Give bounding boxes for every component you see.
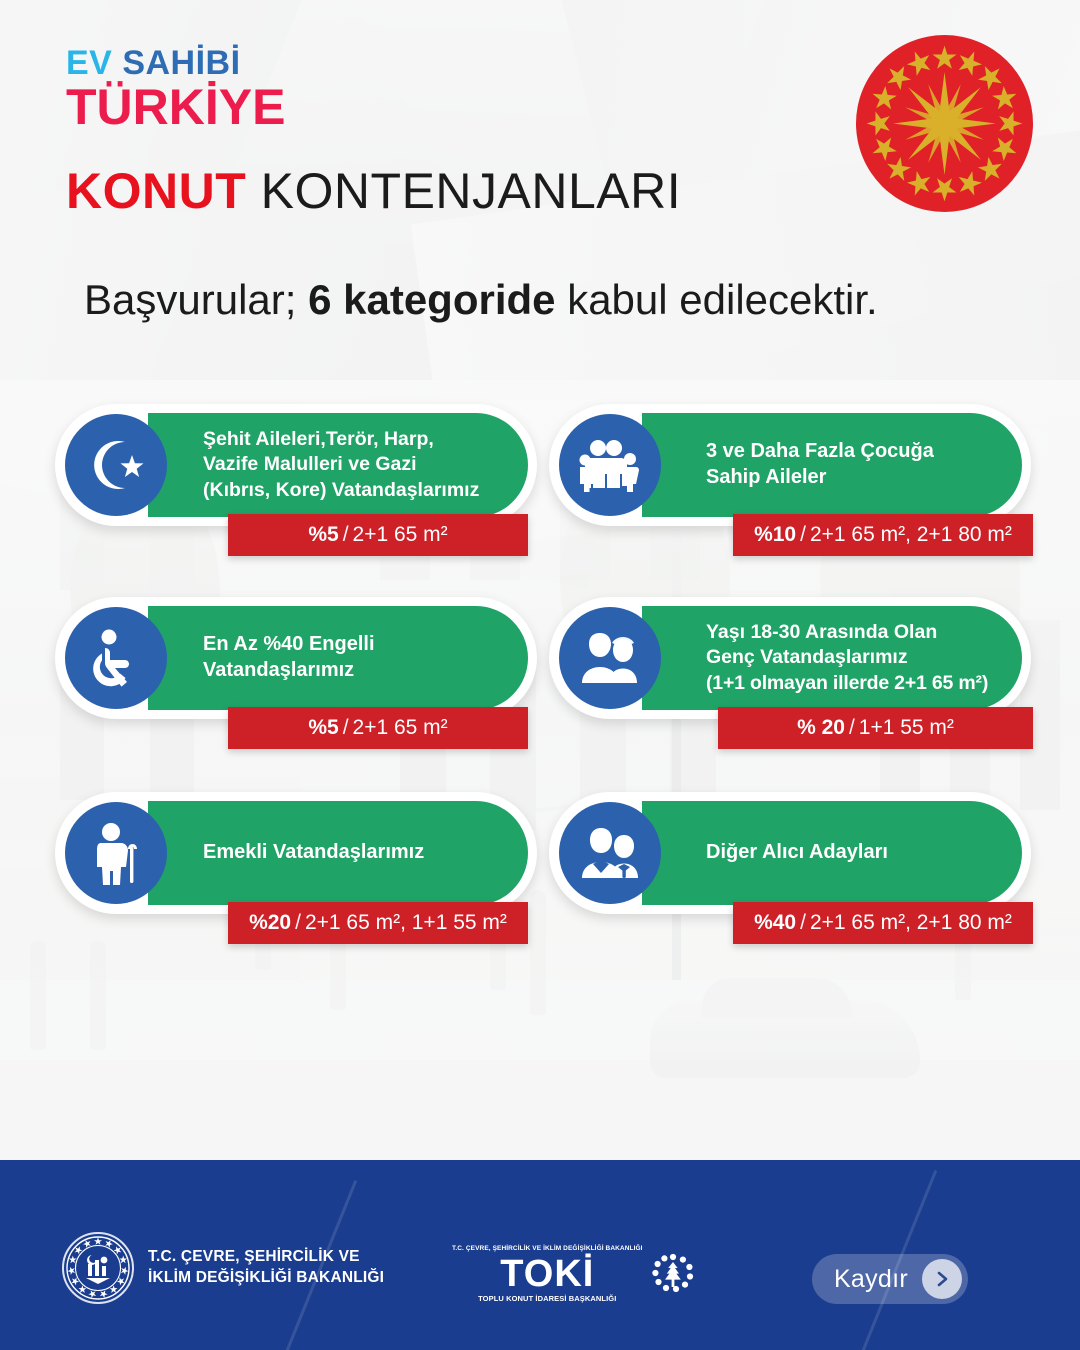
card-label-line: Yaşı 18-30 Arasında Olan <box>706 620 1028 645</box>
ministry-logo-text: T.C. ÇEVRE, ŞEHİRCİLİK VE İKLİM DEĞİŞİKL… <box>148 1247 384 1289</box>
card-label-line: (1+1 olmayan illerde 2+1 65 m²) <box>706 671 1028 696</box>
campaign-logo-turkiye: TÜRKİYE <box>66 82 285 132</box>
category-card-uc-ve-daha-fazla-cocuk[interactable]: 3 ve Daha Fazla Çocuğa Sahip Aileler %10… <box>549 404 1031 526</box>
campaign-logo-line1: EV SAHİBİ <box>66 46 285 80</box>
card-quota-percent: %5 <box>308 523 338 547</box>
card-quota-percent: % 20 <box>797 716 845 740</box>
elderly-person-icon <box>65 802 167 904</box>
card-quota-badge: %5 / 2+1 65 m² <box>228 514 528 556</box>
category-card-engelli-vatandaslar[interactable]: En Az %40 Engelli Vatandaşlarımız %5 / 2… <box>55 597 537 719</box>
page-title-rest: KONTENJANLARI <box>261 163 681 219</box>
card-quota-separator: / <box>339 716 353 740</box>
card-quota-percent: %10 <box>754 523 796 547</box>
chevron-right-icon[interactable] <box>922 1259 962 1299</box>
two-professionals-icon <box>559 802 661 904</box>
category-card-sehit-aileleri[interactable]: Şehit Aileleri,Terör, Harp, Vazife Malul… <box>55 404 537 526</box>
card-quota-separator: / <box>291 911 305 935</box>
family-icon <box>559 414 661 516</box>
card-quota-badge: % 20 / 1+1 55 m² <box>718 707 1033 749</box>
subtitle-after: kabul edilecektir. <box>567 276 878 323</box>
card-quota-percent: %40 <box>754 911 796 935</box>
card-quota-badge: %5 / 2+1 65 m² <box>228 707 528 749</box>
card-label-line: Diğer Alıcı Adayları <box>706 840 1028 866</box>
card-quota-percent: %5 <box>308 716 338 740</box>
card-quota-separator: / <box>845 716 859 740</box>
card-label: Şehit Aileleri,Terör, Harp, Vazife Malul… <box>203 404 525 526</box>
card-label-line: Vazife Malulleri ve Gazi <box>203 452 525 477</box>
toki-logo-wordmark: TOKİ <box>452 1255 643 1293</box>
ministry-seal-icon <box>62 1232 134 1304</box>
card-quota-badge: %20 / 2+1 65 m², 1+1 55 m² <box>228 902 528 944</box>
swipe-button-label: Kaydır <box>834 1265 908 1294</box>
turkish-presidency-seal-icon <box>856 35 1033 212</box>
card-quota-types: 2+1 65 m², 1+1 55 m² <box>305 911 507 935</box>
card-quota-separator: / <box>796 523 810 547</box>
card-label: 3 ve Daha Fazla Çocuğa Sahip Aileler <box>706 404 1028 526</box>
campaign-logo: EV SAHİBİ TÜRKİYE <box>66 46 285 132</box>
toki-logo: T.C. ÇEVRE, ŞEHİRCİLİK VE İKLİM DEĞİŞİKL… <box>452 1246 694 1302</box>
card-label-line: En Az %40 Engelli <box>203 632 525 658</box>
footer-bar: T.C. ÇEVRE, ŞEHİRCİLİK VE İKLİM DEĞİŞİKL… <box>0 1160 1080 1350</box>
card-label-line: Şehit Aileleri,Terör, Harp, <box>203 427 525 452</box>
campaign-logo-ev: EV <box>66 44 112 82</box>
card-label-line: (Kıbrıs, Kore) Vatandaşlarımız <box>203 478 525 503</box>
page-title-highlight: KONUT <box>66 163 246 219</box>
campaign-logo-sahibi: SAHİBİ <box>122 44 240 82</box>
toki-tree-icon <box>652 1253 694 1295</box>
card-quota-types: 2+1 65 m², 2+1 80 m² <box>810 911 1012 935</box>
card-quota-types: 1+1 55 m² <box>859 716 954 740</box>
card-quota-types: 2+1 65 m² <box>353 716 448 740</box>
ministry-logo-line1: T.C. ÇEVRE, ŞEHİRCİLİK VE <box>148 1247 384 1268</box>
card-quota-percent: %20 <box>249 911 291 935</box>
subtitle: Başvurular; 6 kategoride kabul edilecekt… <box>84 276 878 324</box>
ministry-logo: T.C. ÇEVRE, ŞEHİRCİLİK VE İKLİM DEĞİŞİKL… <box>62 1232 384 1304</box>
card-label: Emekli Vatandaşlarımız <box>203 792 525 914</box>
card-label-line: 3 ve Daha Fazla Çocuğa <box>706 439 1028 465</box>
category-card-genc-vatandaslar[interactable]: Yaşı 18-30 Arasında Olan Genç Vatandaşla… <box>549 597 1031 719</box>
card-label-line: Emekli Vatandaşlarımız <box>203 840 525 866</box>
card-label: Diğer Alıcı Adayları <box>706 792 1028 914</box>
card-quota-badge: %10 / 2+1 65 m², 2+1 80 m² <box>733 514 1033 556</box>
card-label-line: Sahip Aileler <box>706 465 1028 491</box>
subtitle-bold: 6 kategoride <box>308 276 555 323</box>
card-label-line: Genç Vatandaşlarımız <box>706 645 1028 670</box>
crescent-star-icon <box>65 414 167 516</box>
card-quota-badge: %40 / 2+1 65 m², 2+1 80 m² <box>733 902 1033 944</box>
page-title: KONUT KONTENJANLARI <box>66 162 681 220</box>
card-quota-separator: / <box>339 523 353 547</box>
category-card-diger-alici-adaylari[interactable]: Diğer Alıcı Adayları %40 / 2+1 65 m², 2+… <box>549 792 1031 914</box>
two-young-people-icon <box>559 607 661 709</box>
subtitle-before: Başvurular; <box>84 276 296 323</box>
toki-logo-bottom-text: TOPLU KONUT İDARESİ BAŞKANLIĞI <box>452 1295 643 1303</box>
ministry-logo-line2: İKLİM DEĞİŞİKLİĞİ BAKANLIĞI <box>148 1268 384 1289</box>
card-label-line: Vatandaşlarımız <box>203 658 525 684</box>
category-card-emekli-vatandaslar[interactable]: Emekli Vatandaşlarımız %20 / 2+1 65 m², … <box>55 792 537 914</box>
card-quota-separator: / <box>796 911 810 935</box>
card-label: En Az %40 Engelli Vatandaşlarımız <box>203 597 525 719</box>
swipe-button[interactable]: Kaydır <box>812 1254 968 1304</box>
wheelchair-icon <box>65 607 167 709</box>
card-label: Yaşı 18-30 Arasında Olan Genç Vatandaşla… <box>706 597 1028 719</box>
toki-logo-top-text: T.C. ÇEVRE, ŞEHİRCİLİK VE İKLİM DEĞİŞİKL… <box>452 1246 643 1253</box>
card-quota-types: 2+1 65 m², 2+1 80 m² <box>810 523 1012 547</box>
card-quota-types: 2+1 65 m² <box>353 523 448 547</box>
